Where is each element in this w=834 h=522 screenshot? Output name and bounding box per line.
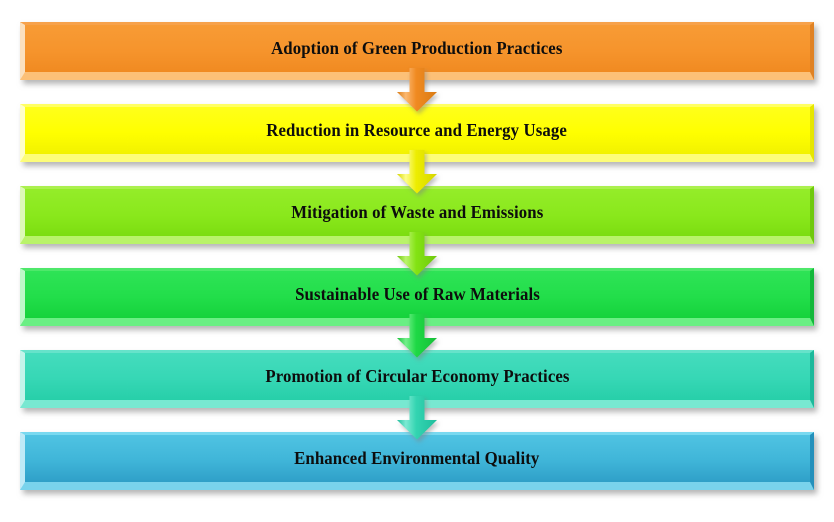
arrow-down-icon-2 — [396, 150, 438, 194]
arrow-down-icon-4 — [396, 314, 438, 358]
arrow-down-icon-5 — [396, 396, 438, 440]
arrow-down-icon-1 — [396, 68, 438, 112]
node-label: Reduction in Resource and Energy Usage — [267, 120, 568, 141]
node-label: Sustainable Use of Raw Materials — [295, 284, 540, 305]
arrow-down-icon-3 — [396, 232, 438, 276]
flow-node-enhanced-environmental-quality[interactable]: Enhanced Environmental Quality — [20, 432, 814, 490]
node-label: Adoption of Green Production Practices — [271, 38, 562, 59]
node-face: Enhanced Environmental Quality — [20, 432, 814, 490]
node-label: Promotion of Circular Economy Practices — [265, 366, 569, 387]
flowchart: Adoption of Green Production Practices R… — [0, 0, 834, 522]
node-label: Enhanced Environmental Quality — [294, 448, 539, 469]
node-label: Mitigation of Waste and Emissions — [291, 202, 543, 223]
